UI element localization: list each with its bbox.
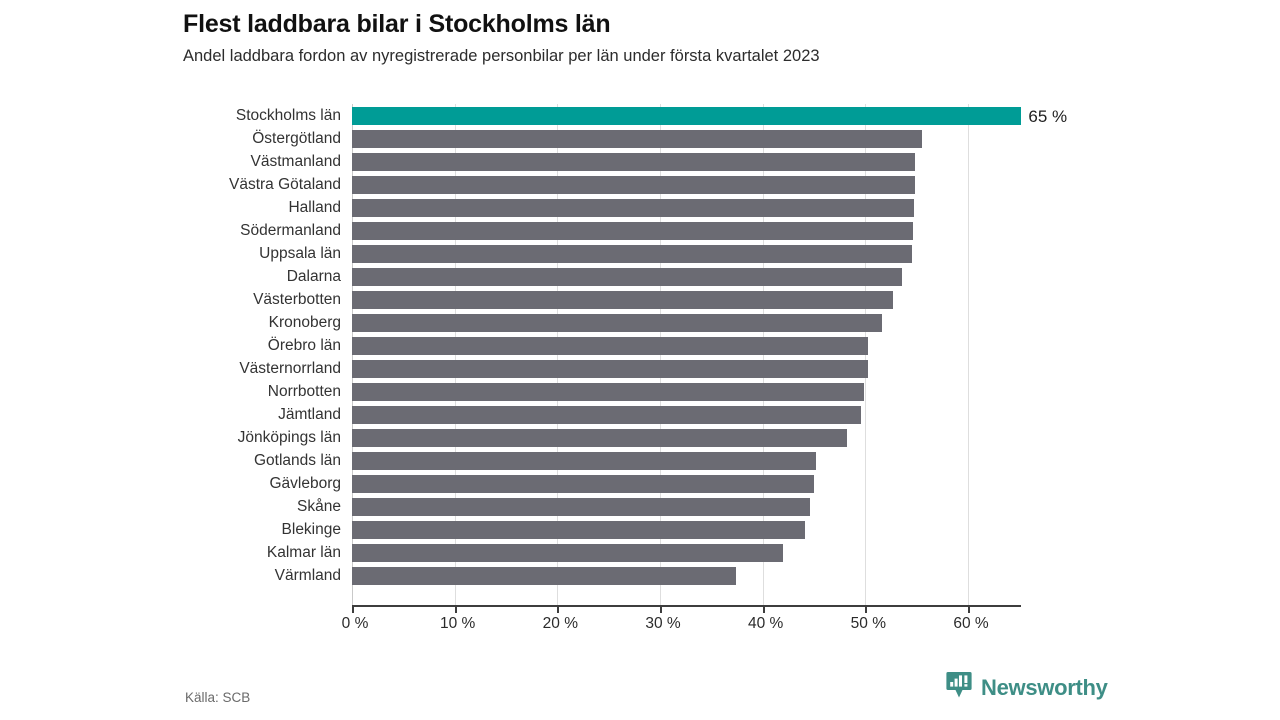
- bar-row[interactable]: Gotlands län: [0, 449, 1280, 472]
- newsworthy-logo[interactable]: Newsworthy: [946, 671, 1108, 704]
- bar-category-label: Södermanland: [11, 219, 341, 242]
- bar-category-label: Västerbotten: [11, 288, 341, 311]
- bar-container: [352, 222, 913, 240]
- bar[interactable]: [352, 429, 847, 447]
- bar-category-label: Gävleborg: [11, 472, 341, 495]
- bar-category-label: Uppsala län: [11, 242, 341, 265]
- bar-row[interactable]: Värmland: [0, 564, 1280, 587]
- x-tick-label: 60 %: [953, 614, 988, 634]
- x-tick-mark: [455, 607, 457, 613]
- bar-container: [352, 199, 914, 217]
- bar-container: [352, 268, 902, 286]
- bar-container: [352, 130, 922, 148]
- bar-rows: Stockholms län65 %ÖstergötlandVästmanlan…: [0, 104, 1280, 587]
- bar-category-label: Jönköpings län: [11, 426, 341, 449]
- bar[interactable]: [352, 314, 882, 332]
- bar-container: [352, 314, 882, 332]
- bar-row[interactable]: Västerbotten: [0, 288, 1280, 311]
- bar-container: [352, 153, 915, 171]
- bar[interactable]: [352, 521, 805, 539]
- bar-container: [352, 544, 783, 562]
- bar-category-label: Skåne: [11, 495, 341, 518]
- bar-row[interactable]: Norrbotten: [0, 380, 1280, 403]
- bar[interactable]: [352, 222, 913, 240]
- newsworthy-logo-text: Newsworthy: [981, 676, 1108, 700]
- bar-category-label: Kalmar län: [11, 541, 341, 564]
- bar-container: 65 %: [352, 107, 1021, 125]
- bar-category-label: Västmanland: [11, 150, 341, 173]
- bar-row[interactable]: Halland: [0, 196, 1280, 219]
- bar-row[interactable]: Jämtland: [0, 403, 1280, 426]
- bar-chart: Stockholms län65 %ÖstergötlandVästmanlan…: [0, 104, 1280, 614]
- bar[interactable]: [352, 567, 736, 585]
- bar-row[interactable]: Örebro län: [0, 334, 1280, 357]
- bar-row[interactable]: Jönköpings län: [0, 426, 1280, 449]
- bar-container: [352, 360, 868, 378]
- bar[interactable]: [352, 153, 915, 171]
- bar-row[interactable]: Uppsala län: [0, 242, 1280, 265]
- bar-row[interactable]: Blekinge: [0, 518, 1280, 541]
- bar-row[interactable]: Skåne: [0, 495, 1280, 518]
- bar-container: [352, 452, 816, 470]
- bar-row[interactable]: Kronoberg: [0, 311, 1280, 334]
- newsworthy-logo-icon: [946, 671, 972, 704]
- x-tick-label: 30 %: [645, 614, 680, 634]
- bar-container: [352, 498, 810, 516]
- bar[interactable]: [352, 383, 864, 401]
- bar-container: [352, 429, 847, 447]
- bar-container: [352, 383, 864, 401]
- bar-category-label: Jämtland: [11, 403, 341, 426]
- x-tick-mark: [968, 607, 970, 613]
- bar-container: [352, 291, 893, 309]
- bar-category-label: Gotlands län: [11, 449, 341, 472]
- bar[interactable]: [352, 268, 902, 286]
- bar-row[interactable]: Södermanland: [0, 219, 1280, 242]
- x-tick-label: 20 %: [543, 614, 578, 634]
- x-tick-mark: [352, 607, 354, 613]
- x-tick-mark: [865, 607, 867, 613]
- x-tick-mark: [557, 607, 559, 613]
- bar[interactable]: [352, 475, 814, 493]
- bar[interactable]: [352, 176, 915, 194]
- bar[interactable]: [352, 360, 868, 378]
- bar-container: [352, 521, 805, 539]
- x-tick-mark: [660, 607, 662, 613]
- bar[interactable]: [352, 245, 912, 263]
- bar-container: [352, 567, 736, 585]
- bar[interactable]: [352, 291, 893, 309]
- bar-container: [352, 245, 912, 263]
- bar-category-label: Norrbotten: [11, 380, 341, 403]
- bar-container: [352, 406, 861, 424]
- bar[interactable]: [352, 498, 810, 516]
- chart-footer: Källa: SCB Newsworthy: [0, 640, 1280, 720]
- bar[interactable]: [352, 337, 868, 355]
- x-tick-label: 50 %: [851, 614, 886, 634]
- bar-category-label: Blekinge: [11, 518, 341, 541]
- bar-category-label: Östergötland: [11, 127, 341, 150]
- bar[interactable]: [352, 199, 914, 217]
- chart-subtitle: Andel laddbara fordon av nyregistrerade …: [183, 39, 1103, 66]
- bar-container: [352, 176, 915, 194]
- bar-category-label: Halland: [11, 196, 341, 219]
- bar-row[interactable]: Östergötland: [0, 127, 1280, 150]
- bar-row[interactable]: Västernorrland: [0, 357, 1280, 380]
- bar-category-label: Dalarna: [11, 265, 341, 288]
- bar-row[interactable]: Västra Götaland: [0, 173, 1280, 196]
- bar-row[interactable]: Dalarna: [0, 265, 1280, 288]
- bar-row[interactable]: Gävleborg: [0, 472, 1280, 495]
- bar-category-label: Örebro län: [11, 334, 341, 357]
- bar-row[interactable]: Stockholms län65 %: [0, 104, 1280, 127]
- bar-container: [352, 337, 868, 355]
- bar[interactable]: [352, 107, 1021, 125]
- bar-value-label: 65 %: [1021, 106, 1067, 127]
- bar-category-label: Värmland: [11, 564, 341, 587]
- chart-header: Flest laddbara bilar i Stockholms län An…: [183, 0, 1103, 66]
- bar-container: [352, 475, 814, 493]
- bar-row[interactable]: Västmanland: [0, 150, 1280, 173]
- x-tick-label: 0 %: [342, 614, 369, 634]
- bar[interactable]: [352, 130, 922, 148]
- source-label: Källa: SCB: [185, 690, 250, 705]
- page-title: Flest laddbara bilar i Stockholms län: [183, 0, 1103, 39]
- bar-category-label: Stockholms län: [11, 104, 341, 127]
- x-tick-label: 10 %: [440, 614, 475, 634]
- bar-category-label: Kronoberg: [11, 311, 341, 334]
- bar[interactable]: [352, 452, 816, 470]
- x-axis-line: [352, 605, 1021, 607]
- bar[interactable]: [352, 406, 861, 424]
- bar-category-label: Västernorrland: [11, 357, 341, 380]
- bar[interactable]: [352, 544, 783, 562]
- bar-category-label: Västra Götaland: [11, 173, 341, 196]
- bar-row[interactable]: Kalmar län: [0, 541, 1280, 564]
- x-tick-label: 40 %: [748, 614, 783, 634]
- x-tick-mark: [763, 607, 765, 613]
